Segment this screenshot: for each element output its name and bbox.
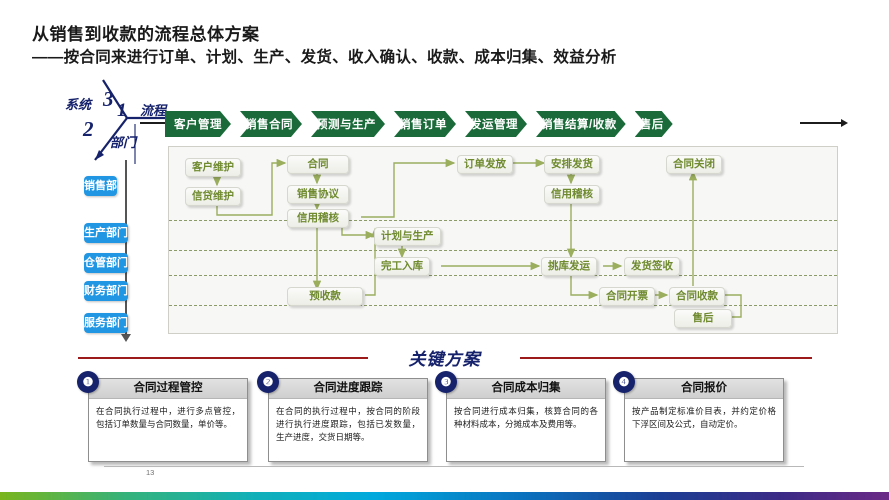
flow-node-dingdan-fafang[interactable]: 订单发放 [457, 155, 513, 174]
process-step-label: 客户管理 [174, 116, 222, 132]
key-card-2-body: 在合同的执行过程中，按合同的阶段进行执行进度跟踪，包括已发数量，生产进度，交货日… [269, 399, 427, 444]
annotation-dept-number: 2 [83, 117, 94, 142]
flow-node-anpai-fahuo[interactable]: 安排发货 [544, 155, 600, 174]
flow-node-hetong[interactable]: 合同 [287, 155, 349, 174]
bottom-gradient-bar [0, 492, 889, 500]
annotation-process-label: 流程 [140, 100, 166, 119]
key-card-1[interactable]: ❶ 合同过程管控 在合同执行过程中，进行多点管控，包括订单数量与合同数量，单价等… [88, 378, 248, 462]
process-step-yuceyushengchan[interactable]: 预测与生产 [311, 111, 385, 137]
key-card-4-body: 按产品制定标准价目表，并约定价格下浮区间及公式，自动定价。 [625, 399, 783, 431]
flow-node-xindai-weihu[interactable]: 信贷维护 [185, 187, 241, 206]
page-number: 13 [146, 468, 154, 477]
department-xiaoshoubu[interactable]: 销售部 [84, 176, 117, 196]
key-card-4-badge: ❹ [613, 371, 635, 393]
key-card-3-body: 按合同进行成本归集，核算合同的各种材料成本，分摊成本及费用等。 [447, 399, 605, 431]
department-fuwubumen[interactable]: 服务部门 [84, 313, 128, 333]
flow-node-xinyong-jihe[interactable]: 信用稽核 [287, 209, 349, 228]
key-card-4[interactable]: ❹ 合同报价 按产品制定标准价目表，并约定价格下浮区间及公式，自动定价。 [624, 378, 784, 462]
footer-divider [104, 466, 804, 467]
annotation-dept-label: 部门 [110, 132, 136, 151]
flow-node-jihua-shengchan[interactable]: 计划与生产 [374, 227, 441, 246]
department-shengchanbumen[interactable]: 生产部门 [84, 223, 128, 243]
process-step-xiaoshouhetong[interactable]: 销售合同 [240, 111, 302, 137]
key-card-4-title: 合同报价 [625, 379, 783, 399]
flow-node-tiku-fayun[interactable]: 挑库发运 [541, 257, 597, 276]
process-step-label: 预测与生产 [316, 116, 376, 132]
page-title: 从销售到收款的流程总体方案 [32, 24, 852, 47]
process-step-xiaoshoujiesuan[interactable]: 销售结算/收款 [536, 111, 626, 137]
flow-node-hetong-kaipiao[interactable]: 合同开票 [599, 287, 655, 306]
department-caiwubumen[interactable]: 财务部门 [84, 281, 128, 301]
process-step-label: 销售合同 [245, 116, 293, 132]
key-card-1-badge: ❶ [77, 371, 99, 393]
key-card-1-title: 合同过程管控 [89, 379, 247, 399]
flow-node-yushoukuan[interactable]: 预收款 [287, 287, 363, 306]
key-card-3-badge: ❸ [435, 371, 457, 393]
annotation-system-label: 系统 [65, 94, 91, 113]
flow-node-hetong-shoukuan[interactable]: 合同收款 [669, 287, 725, 306]
title-block: 从销售到收款的流程总体方案 ——按合同来进行订单、计划、生产、发货、收入确认、收… [32, 24, 852, 69]
process-step-kehuguanli[interactable]: 客户管理 [165, 111, 231, 137]
key-card-2-title: 合同进度跟踪 [269, 379, 427, 399]
process-step-label: 售后 [640, 116, 664, 132]
department-axis-arrow-icon [125, 160, 127, 335]
slide-root: 从销售到收款的流程总体方案 ——按合同来进行订单、计划、生产、发货、收入确认、收… [0, 0, 889, 500]
key-card-3-title: 合同成本归集 [447, 379, 605, 399]
flow-connectors [169, 147, 839, 335]
process-step-label: 销售结算/收款 [541, 116, 617, 132]
process-step-label: 销售订单 [399, 116, 447, 132]
process-step-fayunguanli[interactable]: 发运管理 [465, 111, 527, 137]
flow-node-hetong-guanbi[interactable]: 合同关闭 [666, 155, 722, 174]
flow-node-wangong-ruku[interactable]: 完工入库 [374, 257, 430, 276]
key-card-2[interactable]: ❷ 合同进度跟踪 在合同的执行过程中，按合同的阶段进行执行进度跟踪，包括已发数量… [268, 378, 428, 462]
annotation-system-number: 3 [103, 87, 114, 112]
annotation-process-number: 1 [117, 100, 127, 122]
flow-node-kehu-weihu[interactable]: 客户维护 [185, 158, 241, 177]
process-step-shouhou[interactable]: 售后 [635, 111, 673, 137]
process-bar-lead-arrow [140, 122, 168, 124]
flow-node-xiaoshou-xieyi[interactable]: 销售协议 [287, 185, 349, 204]
process-bar: 客户管理 销售合同 预测与生产 销售订单 发运管理 销售结算/收款 售后 [165, 111, 682, 137]
process-step-label: 发运管理 [470, 116, 518, 132]
department-cangguanbumen[interactable]: 仓管部门 [84, 253, 128, 273]
key-section-rule-left [78, 357, 368, 359]
flow-diagram: 客户维护 信贷维护 合同 销售协议 信用稽核 订单发放 安排发货 信用稽核 合同… [168, 146, 838, 334]
flow-node-fahuo-qianshou[interactable]: 发货签收 [624, 257, 680, 276]
key-card-1-body: 在合同执行过程中，进行多点管控，包括订单数量与合同数量，单价等。 [89, 399, 247, 431]
page-subtitle: ——按合同来进行订单、计划、生产、发货、收入确认、收款、成本归集、效益分析 [32, 48, 852, 69]
key-card-3[interactable]: ❸ 合同成本归集 按合同进行成本归集，核算合同的各种材料成本，分摊成本及费用等。 [446, 378, 606, 462]
process-bar-tail-arrow [800, 122, 842, 124]
key-card-2-badge: ❷ [257, 371, 279, 393]
key-section-rule-right [520, 357, 812, 359]
process-step-xiaoshoudingdan[interactable]: 销售订单 [394, 111, 456, 137]
flow-node-xinyong-jihe-2[interactable]: 信用稽核 [544, 185, 600, 204]
key-section-title: 关键方案 [372, 345, 517, 370]
flow-node-shouhou[interactable]: 售后 [674, 309, 732, 328]
